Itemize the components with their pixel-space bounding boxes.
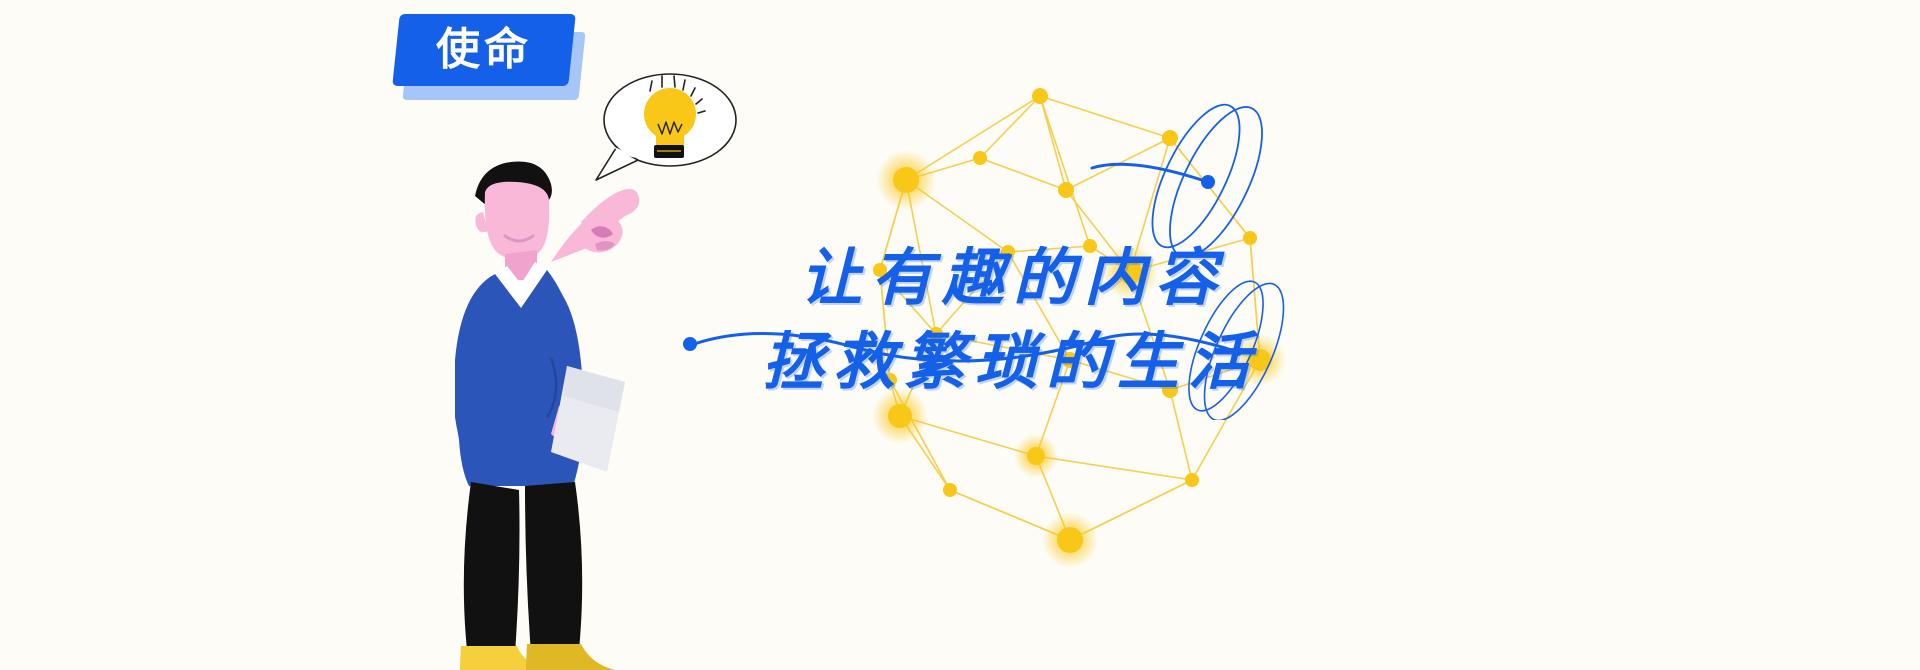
orbit-trail-upper bbox=[1092, 164, 1208, 182]
trail-end-dot bbox=[683, 337, 697, 351]
pants-left bbox=[464, 482, 520, 654]
badge-label: 使命 bbox=[436, 28, 532, 72]
headline-line-1: 让有趣的内容 bbox=[800, 236, 1520, 320]
mission-banner: 使命 bbox=[0, 0, 1920, 670]
pointing-hand bbox=[551, 189, 639, 262]
pants-right bbox=[525, 482, 582, 654]
mission-badge: 使命 bbox=[396, 14, 586, 106]
orbit-center-dot-upper bbox=[1201, 175, 1215, 189]
headline-block: 让有趣的内容 拯救繁琐的生活 bbox=[800, 236, 1520, 404]
orbit-ring-upper-back bbox=[1135, 93, 1257, 260]
shoe-right bbox=[525, 644, 617, 670]
head bbox=[485, 182, 549, 260]
headline-line-2: 拯救繁琐的生活 bbox=[762, 320, 1520, 404]
badge-plate: 使命 bbox=[392, 14, 576, 86]
